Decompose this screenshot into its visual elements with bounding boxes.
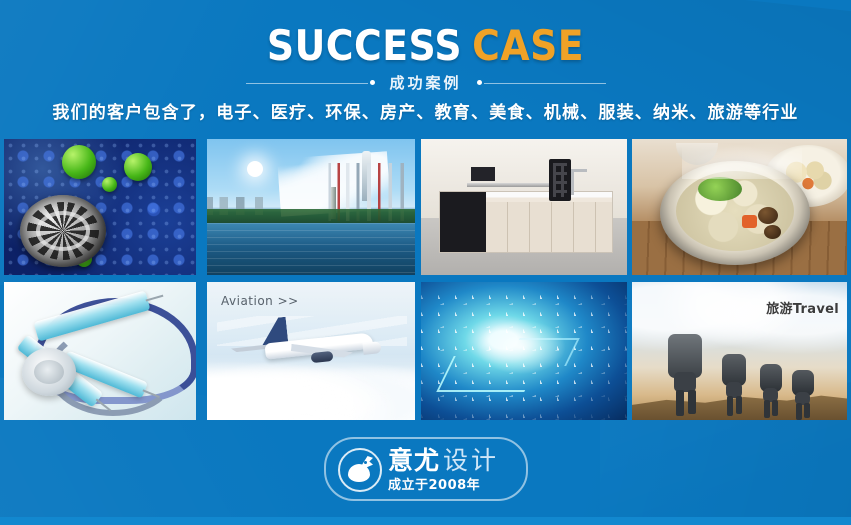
logo-name-thin: 设计 [443, 446, 499, 475]
logo-eye-dot [364, 461, 367, 464]
bottom-accent-band [0, 517, 851, 525]
sun-icon [247, 161, 263, 177]
lab-bench [439, 191, 613, 253]
gallery-tile-lab[interactable] [421, 139, 627, 275]
control-panel [549, 159, 571, 201]
gallery-tile-electronics[interactable] [421, 282, 627, 420]
aviation-caption: Aviation >> [221, 294, 299, 308]
logo-since-text: 成立于2008年 [388, 474, 520, 493]
gallery-tile-medical[interactable] [4, 282, 196, 420]
carrot-piece [742, 215, 757, 228]
travel-hikers-image: 旅游Travel [632, 282, 847, 420]
mushroom [758, 207, 778, 224]
logo-name-bold: 意尤 [388, 446, 440, 475]
gallery-tile-travel[interactable]: 旅游Travel [632, 282, 847, 420]
hiker-leg [676, 390, 684, 416]
gallery-tile-nano[interactable] [4, 139, 196, 275]
hiker-leg [796, 403, 802, 420]
mushroom [764, 225, 781, 239]
hiker-leg [736, 396, 742, 414]
nano-molecular-image [4, 139, 196, 275]
banner-header: SUCCESSCASE 成功案例 我们的客户包含了，电子、医疗、环保、房产、教育… [0, 0, 851, 135]
gallery-tile-food[interactable] [632, 139, 847, 275]
medical-equipment-image [4, 282, 196, 420]
green-vegetable [698, 177, 742, 201]
hiker-figure [758, 364, 784, 418]
success-case-banner: SUCCESSCASE 成功案例 我们的客户包含了，电子、医疗、环保、房产、教育… [0, 0, 851, 525]
hiker-torso [674, 372, 696, 392]
subtitle-row: 成功案例 [0, 72, 851, 94]
nano-green-sphere [124, 153, 152, 181]
hiker-leg [764, 400, 770, 418]
company-logo-badge[interactable]: 意尤设计 成立于2008年 [324, 437, 528, 501]
treeline [207, 209, 415, 223]
electronics-circuit-image [421, 282, 627, 420]
lab-faucet [571, 169, 574, 195]
aviation-airplane-image: Aviation >> [207, 282, 415, 420]
hiker-leg [804, 403, 810, 418]
divider-line-right [484, 83, 606, 84]
hiker-leg [727, 396, 733, 416]
hotpot-food-image [632, 139, 847, 275]
environment-factory-image [207, 139, 415, 275]
bird-pen-icon [338, 448, 382, 492]
hiker-figure [666, 334, 704, 414]
hiker-leg [688, 390, 696, 414]
gallery-tile-environment[interactable] [207, 139, 415, 275]
nano-green-sphere [62, 145, 96, 179]
gallery-tile-aviation[interactable]: Aviation >> [207, 282, 415, 420]
title-case: CASE [472, 21, 584, 70]
stethoscope-chestpiece [22, 348, 76, 396]
case-gallery-grid: Aviation >> [4, 139, 847, 420]
cloud-layer [207, 354, 415, 420]
hiker-figure [790, 370, 816, 420]
logo-wordmark: 意尤设计 [388, 446, 520, 476]
subtitle-chinese: 成功案例 [0, 72, 851, 94]
steam-wisp [682, 139, 802, 179]
travel-caption: 旅游Travel [766, 298, 839, 317]
center-glow [473, 318, 569, 376]
fullerene-icon [20, 195, 106, 267]
laboratory-bench-image [421, 139, 627, 275]
hiker-leg [772, 400, 778, 416]
title-success: SUCCESS [267, 21, 462, 70]
bench-box [471, 167, 495, 181]
divider-dot-right [477, 80, 482, 85]
water-body [207, 223, 415, 275]
hiker-figure [720, 354, 748, 416]
page-title: SUCCESSCASE [0, 23, 851, 69]
nano-green-sphere [102, 177, 117, 192]
industries-tagline: 我们的客户包含了，电子、医疗、环保、房产、教育、美食、机械、服装、纳米、旅游等行… [0, 101, 851, 125]
